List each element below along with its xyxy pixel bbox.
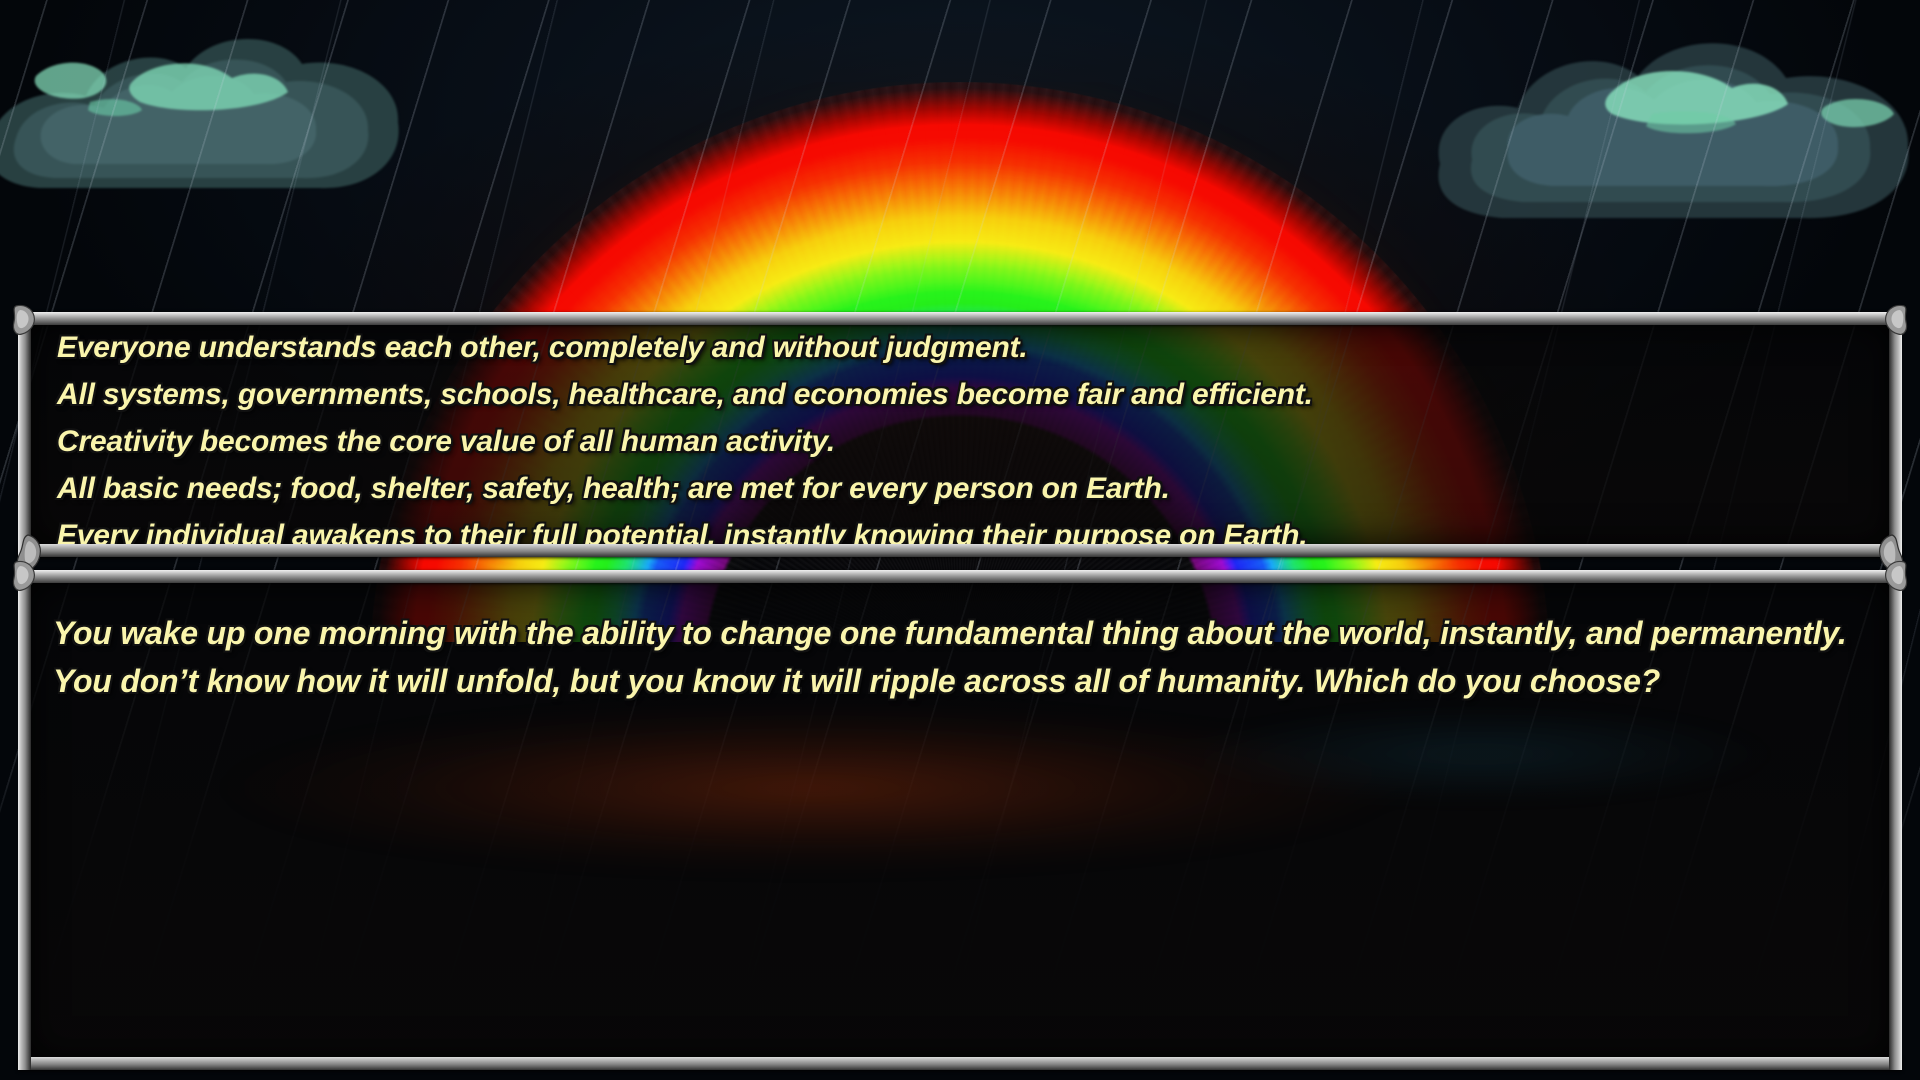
panel-left-frame bbox=[18, 312, 31, 557]
panel-top-frame bbox=[18, 312, 1902, 325]
game-screen: Everyone understands each other, complet… bbox=[0, 0, 1920, 1080]
narration-right-frame bbox=[1889, 570, 1902, 1070]
choice-option-1[interactable]: Everyone understands each other, complet… bbox=[31, 325, 1889, 372]
choice-option-2[interactable]: All systems, governments, schools, healt… bbox=[31, 372, 1889, 419]
narration-text: You wake up one morning with the ability… bbox=[31, 583, 1889, 705]
narration-left-frame bbox=[18, 570, 31, 1070]
choice-list: Everyone understands each other, complet… bbox=[31, 325, 1889, 544]
ground-glow bbox=[31, 703, 1889, 873]
choice-list-body: Everyone understands each other, complet… bbox=[31, 325, 1889, 544]
panel-bottom-frame bbox=[18, 544, 1902, 557]
narration-panel: You wake up one morning with the ability… bbox=[18, 570, 1902, 1070]
choice-option-3[interactable]: Creativity becomes the core value of all… bbox=[31, 419, 1889, 466]
choice-list-panel: Everyone understands each other, complet… bbox=[18, 312, 1902, 557]
cloud-left bbox=[0, 0, 410, 220]
narration-bottom-frame bbox=[18, 1057, 1902, 1070]
cloud-right bbox=[1400, 0, 1920, 244]
narration-body: You wake up one morning with the ability… bbox=[31, 583, 1889, 1057]
choice-option-4[interactable]: All basic needs; food, shelter, safety, … bbox=[31, 466, 1889, 513]
panel-right-frame bbox=[1889, 312, 1902, 557]
choice-option-5[interactable]: Every individual awakens to their full p… bbox=[31, 513, 1889, 544]
narration-top-frame bbox=[18, 570, 1902, 583]
